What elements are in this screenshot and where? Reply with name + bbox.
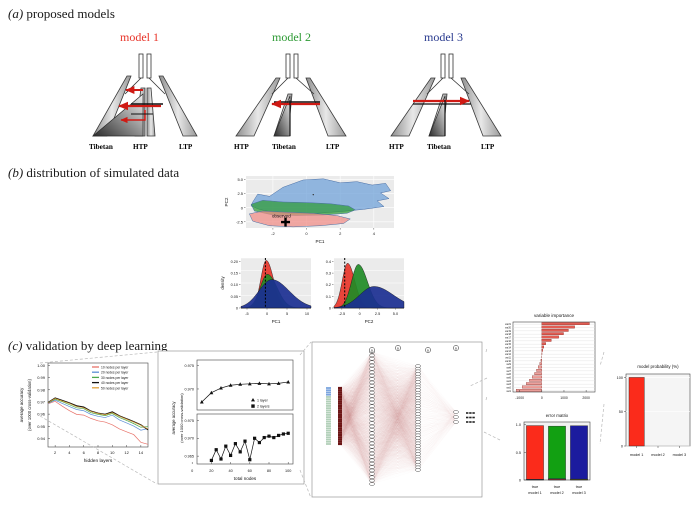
connector-lines bbox=[0, 0, 700, 507]
